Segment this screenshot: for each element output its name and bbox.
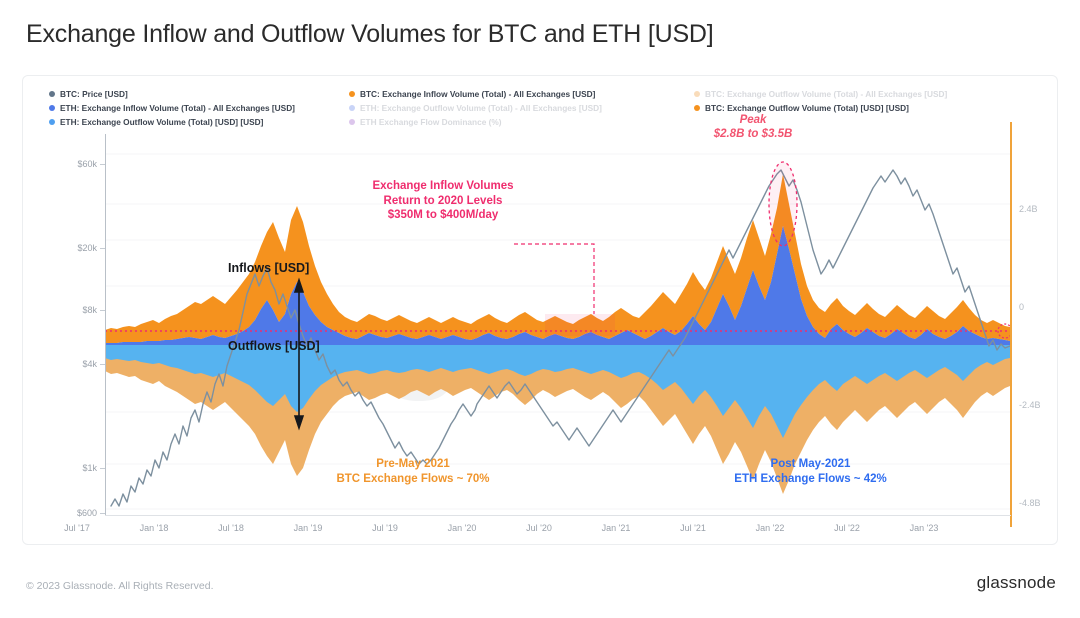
page-title: Exchange Inflow and Outflow Volumes for … (26, 20, 714, 49)
annotation-post-may-2021: Post May-2021 ETH Exchange Flows ~ 42% (683, 457, 938, 487)
x-axis-tick-jul17: Jul '17 (64, 523, 90, 533)
y-axis-left-tick-mark (100, 364, 105, 365)
y-axis-left-tick-mark (100, 468, 105, 469)
x-axis-tick-jan22: Jan '22 (756, 523, 785, 533)
annotation-line-1: Post May-2021 (683, 457, 938, 472)
y-axis-right-line (1010, 122, 1012, 527)
y-axis-left-tick-60k: $60k (51, 159, 97, 169)
chart-card: BTC: Price [USD] ETH: Exchange Inflow Vo… (22, 75, 1058, 545)
legend-item-eth-outflow-all[interactable]: ETH: Exchange Outflow Volume (Total) - A… (349, 102, 694, 114)
legend-item-btc-inflow[interactable]: BTC: Exchange Inflow Volume (Total) - Al… (349, 88, 694, 100)
annotation-inflow-return: Exchange Inflow Volumes Return to 2020 L… (353, 179, 533, 223)
legend-swatch-icon (349, 91, 355, 97)
legend-label: ETH Exchange Flow Dominance (%) (360, 117, 502, 127)
y-axis-left-line (105, 134, 106, 515)
y-axis-left-tick-600: $600 (51, 508, 97, 518)
x-axis-tick-jan23: Jan '23 (910, 523, 939, 533)
copyright-text: © 2023 Glassnode. All Rights Reserved. (26, 580, 214, 592)
x-axis-tick-jan20: Jan '20 (448, 523, 477, 533)
x-axis-tick-jan18: Jan '18 (140, 523, 169, 533)
legend-swatch-icon (349, 119, 355, 125)
y-axis-right-tick-neg4-8b: -4.8B (1019, 498, 1041, 508)
x-axis-tick-jul22: Jul '22 (834, 523, 860, 533)
legend-swatch-icon (694, 91, 700, 97)
annotation-line-2: ETH Exchange Flows ~ 42% (683, 472, 938, 487)
x-axis-tick-jul18: Jul '18 (218, 523, 244, 533)
y-axis-right-tick-neg2-4b: -2.4B (1019, 400, 1041, 410)
legend-item-eth-inflow[interactable]: ETH: Exchange Inflow Volume (Total) - Al… (49, 102, 349, 114)
x-axis-line (105, 515, 1011, 516)
annotation-line-2: Return to 2020 Levels (353, 194, 533, 209)
y-axis-left-tick-mark (100, 248, 105, 249)
legend-swatch-icon (349, 105, 355, 111)
inflow-highlight-box (545, 314, 615, 336)
legend-item-btc-price[interactable]: BTC: Price [USD] (49, 88, 349, 100)
x-axis-tick-jul19: Jul '19 (372, 523, 398, 533)
legend-swatch-icon (49, 91, 55, 97)
glassnode-logo: glassnode (977, 573, 1056, 593)
y-axis-left-tick-20k: $20k (51, 243, 97, 253)
y-axis-left-tick-mark (100, 164, 105, 165)
legend-swatch-icon (49, 119, 55, 125)
chart-page: Exchange Inflow and Outflow Volumes for … (0, 0, 1080, 618)
legend-label: ETH: Exchange Outflow Volume (Total) - A… (360, 103, 602, 113)
chart-legend: BTC: Price [USD] ETH: Exchange Inflow Vo… (49, 88, 1039, 128)
legend-column-2: BTC: Exchange Inflow Volume (Total) - Al… (349, 88, 694, 128)
annotation-line-1: Exchange Inflow Volumes (353, 179, 533, 194)
legend-item-btc-outflow-all[interactable]: BTC: Exchange Outflow Volume (Total) - A… (694, 88, 1024, 100)
y-axis-right-tick-2-4b: 2.4B (1019, 204, 1038, 214)
x-axis-tick-jan21: Jan '21 (602, 523, 631, 533)
annotation-line-2: $2.8B to $3.5B (693, 127, 813, 141)
annotation-line-2: BTC Exchange Flows ~ 70% (288, 472, 538, 487)
legend-label: ETH: Exchange Outflow Volume (Total) [US… (60, 117, 263, 127)
y-axis-right-tick-0: 0 (1019, 302, 1024, 312)
y-axis-left-tick-8k: $8k (51, 305, 97, 315)
annotation-pre-may-2021: Pre-May 2021 BTC Exchange Flows ~ 70% (288, 457, 538, 487)
legend-item-eth-dominance[interactable]: ETH Exchange Flow Dominance (%) (349, 116, 694, 128)
y-axis-left-tick-mark (100, 310, 105, 311)
annotation-peak: Peak $2.8B to $3.5B (693, 113, 813, 141)
y-axis-left-tick-4k: $4k (51, 359, 97, 369)
inflow-annotation-connector (514, 244, 594, 314)
annotation-inflows-label: Inflows [USD] (228, 261, 309, 275)
x-axis-tick-jan19: Jan '19 (294, 523, 323, 533)
legend-label: BTC: Exchange Inflow Volume (Total) - Al… (360, 89, 595, 99)
legend-label: BTC: Price [USD] (60, 89, 128, 99)
x-axis-tick-jul20: Jul '20 (526, 523, 552, 533)
x-axis-tick-jul21: Jul '21 (680, 523, 706, 533)
annotation-outflows-label: Outflows [USD] (228, 339, 320, 353)
y-axis-left-tick-mark (100, 513, 105, 514)
legend-item-eth-outflow[interactable]: ETH: Exchange Outflow Volume (Total) [US… (49, 116, 349, 128)
legend-label: BTC: Exchange Outflow Volume (Total) [US… (705, 103, 909, 113)
y-axis-left-tick-1k: $1k (51, 463, 97, 473)
legend-swatch-icon (694, 105, 700, 111)
annotation-line-1: Pre-May 2021 (288, 457, 538, 472)
annotation-line-3: $350M to $400M/day (353, 208, 533, 223)
annotation-line-1: Peak (693, 113, 813, 127)
legend-label: BTC: Exchange Outflow Volume (Total) - A… (705, 89, 947, 99)
legend-label: ETH: Exchange Inflow Volume (Total) - Al… (60, 103, 295, 113)
legend-column-1: BTC: Price [USD] ETH: Exchange Inflow Vo… (49, 88, 349, 128)
peak-highlight-ellipse (769, 162, 797, 246)
legend-swatch-icon (49, 105, 55, 111)
